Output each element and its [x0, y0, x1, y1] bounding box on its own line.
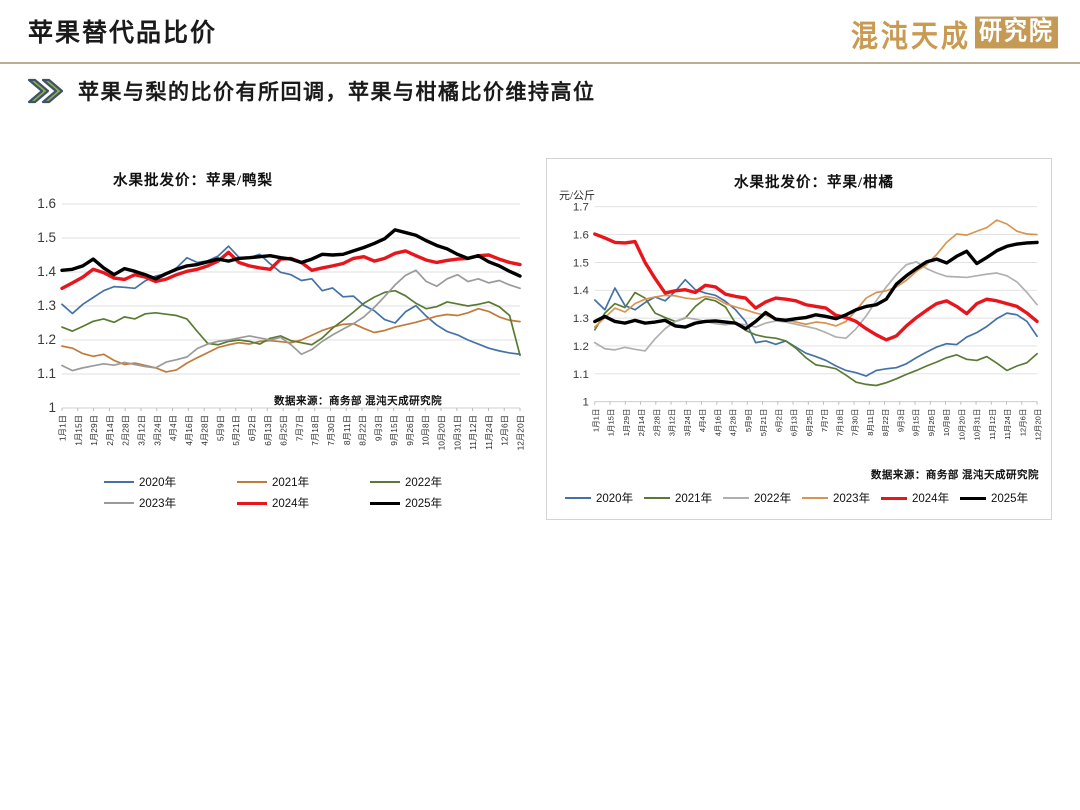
legend-label: 2020年: [596, 490, 633, 506]
x-axis-tick: 7月18日: [835, 409, 844, 437]
y-axis-tick: 1.5: [573, 257, 589, 269]
legend-swatch-icon: [370, 502, 400, 505]
legend-swatch-icon: [802, 497, 828, 499]
series-line-2020年: [62, 246, 520, 354]
x-axis-tick: 12月6日: [500, 415, 510, 446]
x-axis-tick: 7月30日: [326, 415, 336, 446]
x-axis-tick: 11月12日: [988, 409, 997, 440]
legend-label: 2024年: [912, 490, 949, 506]
x-axis-tick: 1月1日: [591, 409, 600, 432]
x-axis-tick: 4月28日: [200, 415, 210, 446]
legend-label: 2023年: [139, 495, 176, 511]
x-axis-tick: 3月24日: [152, 415, 162, 446]
legend-swatch-icon: [237, 502, 267, 505]
x-axis-tick: 6月13日: [790, 409, 799, 437]
legend-label: 2021年: [675, 490, 712, 506]
brand-logo: 混沌天成 研究院: [851, 14, 1058, 52]
legend-item-2020年[interactable]: 2020年: [104, 474, 237, 490]
x-axis-tick: 3月24日: [683, 409, 692, 437]
y-axis-tick: 1: [48, 400, 56, 415]
x-axis-tick: 9月26日: [405, 415, 415, 446]
x-axis-tick: 1月15日: [73, 415, 83, 446]
legend-item-2021年[interactable]: 2021年: [237, 474, 370, 490]
legend-swatch-icon: [237, 481, 267, 483]
brand-logo-text: 混沌天成: [851, 11, 971, 55]
x-axis-tick: 4月4日: [168, 415, 178, 441]
y-axis-tick: 1.1: [573, 369, 589, 381]
x-axis-tick: 12月6日: [1018, 409, 1027, 437]
legend-item-2022年[interactable]: 2022年: [723, 490, 802, 506]
y-axis-tick: 1.4: [37, 264, 56, 279]
x-axis-tick: 10月20日: [957, 409, 966, 441]
legend-label: 2022年: [754, 490, 791, 506]
legend-swatch-icon: [104, 502, 134, 504]
legend-swatch-icon: [723, 497, 749, 499]
legend-swatch-icon: [644, 497, 670, 499]
x-axis-tick: 3月12日: [668, 409, 677, 437]
x-axis-tick: 2月14日: [637, 409, 646, 437]
legend-label: 2022年: [405, 474, 442, 490]
y-axis-tick: 1.2: [37, 332, 56, 347]
legend-label: 2025年: [405, 495, 442, 511]
y-axis-tick: 1.3: [573, 313, 589, 325]
legend-swatch-icon: [881, 497, 907, 500]
x-axis-tick: 5月9日: [744, 409, 753, 432]
x-axis-tick: 8月11日: [342, 415, 352, 445]
x-axis-tick: 11月24日: [1003, 409, 1012, 440]
x-axis-tick: 7月7日: [294, 415, 304, 441]
x-axis-tick: 9月26日: [927, 409, 936, 437]
legend-item-2020年[interactable]: 2020年: [565, 490, 644, 506]
series-line-2023年: [62, 270, 520, 370]
legend-swatch-icon: [370, 481, 400, 483]
y-axis-tick: 1: [582, 397, 588, 409]
legend-item-2021年[interactable]: 2021年: [644, 490, 723, 506]
x-axis-tick: 6月13日: [263, 415, 273, 446]
x-axis-tick: 6月2日: [774, 409, 783, 432]
x-axis-tick: 2月14日: [105, 415, 115, 446]
slide-root: 苹果替代品比价 混沌天成 研究院 苹果与梨的比价有所回调，苹果与柑橘比价维持高位…: [0, 0, 1080, 810]
x-axis-tick: 1月29日: [89, 415, 99, 446]
x-axis-tick: 5月9日: [215, 415, 225, 441]
x-axis-tick: 4月16日: [184, 415, 194, 446]
y-axis-tick: 1.1: [37, 366, 56, 381]
x-axis-tick: 4月16日: [713, 409, 722, 437]
chart-apple-pear: 水果批发价：苹果/鸭梨 11.11.21.31.41.51.61月1日1月15日…: [16, 158, 532, 520]
x-axis-tick: 8月22日: [881, 409, 890, 437]
source-note-apple-pear: 数据来源：商务部 混沌天成研究院: [274, 393, 442, 408]
x-axis-tick: 4月4日: [698, 409, 707, 432]
x-axis-tick: 10月8日: [421, 415, 431, 446]
x-axis-tick: 8月11日: [866, 409, 875, 436]
x-axis-tick: 1月1日: [58, 415, 68, 441]
chart-legend-apple-citrus: 2020年2021年2022年2023年2024年2025年: [565, 490, 1045, 506]
x-axis-tick: 8月22日: [358, 415, 368, 446]
legend-label: 2021年: [272, 474, 309, 490]
legend-item-2023年[interactable]: 2023年: [802, 490, 881, 506]
x-axis-tick: 5月21日: [231, 415, 241, 446]
series-line-2025年: [62, 230, 520, 279]
x-axis-tick: 6月25日: [805, 409, 814, 437]
legend-swatch-icon: [960, 497, 986, 500]
x-axis-tick: 12月20日: [1034, 409, 1043, 441]
x-axis-tick: 9月3日: [373, 415, 383, 441]
legend-label: 2025年: [991, 490, 1028, 506]
double-chevron-icon: [26, 76, 66, 106]
x-axis-tick: 6月25日: [279, 415, 289, 446]
x-axis-tick: 6月2日: [247, 415, 257, 441]
brand-logo-box-text: 研究院: [975, 17, 1058, 49]
legend-item-2025年[interactable]: 2025年: [960, 490, 1039, 506]
y-axis-tick: 1.6: [37, 196, 56, 211]
x-axis-tick: 11月12日: [468, 415, 478, 450]
x-axis-tick: 4月28日: [729, 409, 738, 437]
x-axis-tick: 1月15日: [607, 409, 616, 437]
x-axis-tick: 7月7日: [820, 409, 829, 432]
legend-label: 2023年: [833, 490, 870, 506]
header-divider: [0, 62, 1080, 64]
x-axis-tick: 12月20日: [516, 415, 526, 450]
x-axis-tick: 10月31日: [452, 415, 462, 450]
x-axis-tick: 2月28日: [121, 415, 131, 446]
source-note-apple-citrus: 数据来源：商务部 混沌天成研究院: [871, 467, 1039, 482]
x-axis-tick: 1月29日: [622, 409, 631, 437]
x-axis-tick: 5月21日: [759, 409, 768, 437]
x-axis-tick: 11月24日: [484, 415, 494, 450]
legend-item-2024年[interactable]: 2024年: [881, 490, 960, 506]
subtitle-text: 苹果与梨的比价有所回调，苹果与柑橘比价维持高位: [78, 76, 596, 106]
legend-swatch-icon: [104, 481, 134, 483]
chart-plot-apple-pear: 11.11.21.31.41.51.61月1日1月15日1月29日2月14日2月…: [16, 158, 532, 520]
chart-legend-apple-pear: 2020年2021年2022年2023年2024年2025年: [104, 474, 504, 511]
chart-plot-apple-citrus: 11.11.21.31.41.51.61.71月1日1月15日1月29日2月14…: [547, 159, 1051, 519]
x-axis-tick: 7月18日: [310, 415, 320, 446]
legend-label: 2024年: [272, 495, 309, 511]
legend-label: 2020年: [139, 474, 176, 490]
y-axis-tick: 1.2: [573, 341, 589, 353]
x-axis-tick: 9月3日: [896, 409, 905, 432]
x-axis-tick: 10月8日: [942, 409, 951, 437]
y-axis-tick: 1.7: [573, 202, 589, 214]
legend-item-2022年[interactable]: 2022年: [370, 474, 503, 490]
y-axis-tick: 1.3: [37, 298, 56, 313]
page-title: 苹果替代品比价: [28, 13, 217, 49]
legend-item-2024年[interactable]: 2024年: [237, 495, 370, 511]
legend-item-2025年[interactable]: 2025年: [370, 495, 503, 511]
chart-apple-citrus: 水果批发价：苹果/柑橘 元/公斤 11.11.21.31.41.51.61.71…: [546, 158, 1052, 520]
x-axis-tick: 7月30日: [851, 409, 860, 437]
legend-swatch-icon: [565, 497, 591, 499]
x-axis-tick: 9月15日: [912, 409, 921, 437]
x-axis-tick: 10月20日: [437, 415, 447, 450]
legend-item-2023年[interactable]: 2023年: [104, 495, 237, 511]
x-axis-tick: 3月12日: [136, 415, 146, 446]
y-axis-tick: 1.6: [573, 230, 589, 242]
x-axis-tick: 2月28日: [652, 409, 661, 437]
x-axis-tick: 10月31日: [973, 409, 982, 441]
y-axis-tick: 1.4: [573, 285, 590, 297]
series-line-2024年: [595, 234, 1037, 340]
subtitle-row: 苹果与梨的比价有所回调，苹果与柑橘比价维持高位: [26, 76, 596, 106]
x-axis-tick: 9月15日: [389, 415, 399, 446]
y-axis-tick: 1.5: [37, 230, 56, 245]
